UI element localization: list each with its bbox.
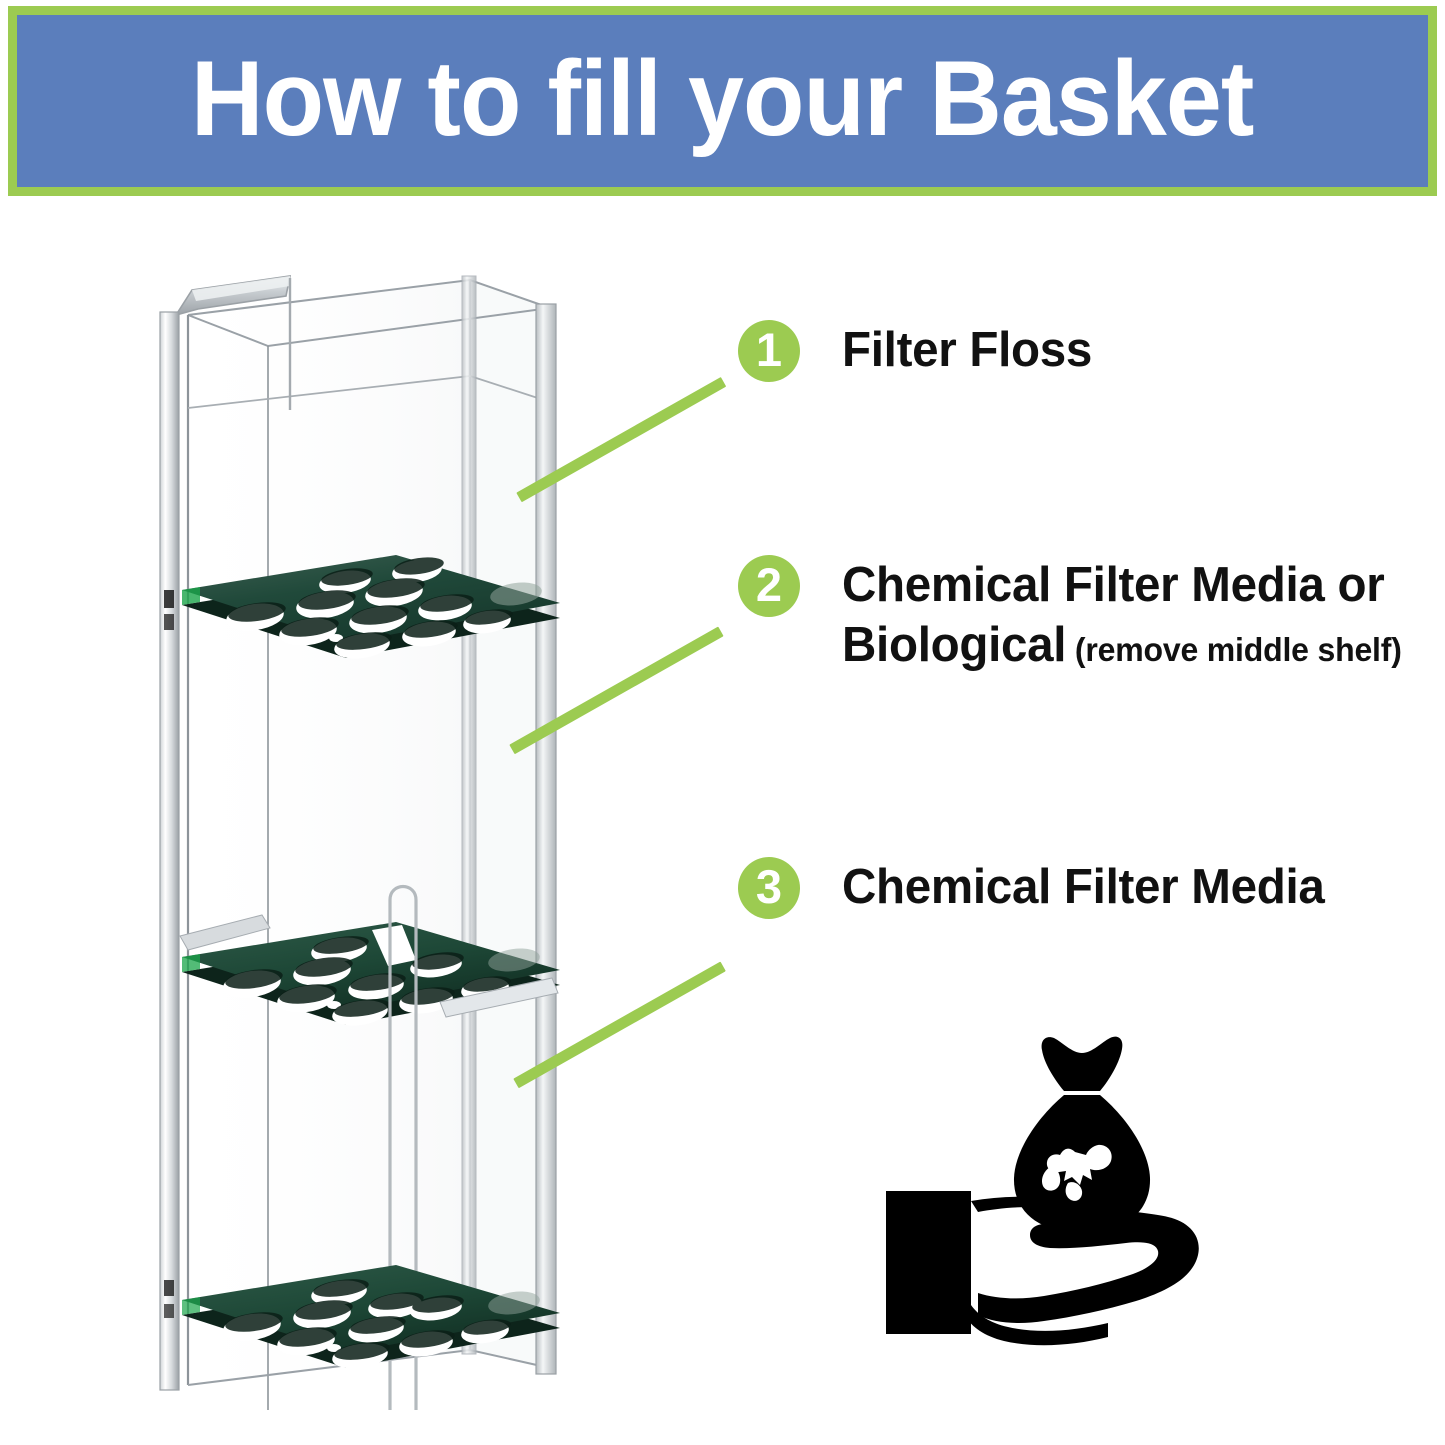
callout-step-3: 3 Chemical Filter Media [738, 857, 1339, 919]
basket-front-glass [188, 1385, 268, 1410]
step-label-2-line2: Biological (remove middle shelf) [842, 616, 1402, 676]
basket-right-rail [536, 304, 556, 1374]
step-badge-3: 3 [738, 857, 800, 919]
step-label-1-text: Filter Floss [842, 323, 1092, 377]
step-badge-2: 2 [738, 555, 800, 617]
step-label-1: Filter Floss [842, 321, 1092, 381]
step-label-3-text: Chemical Filter Media [842, 860, 1325, 914]
step-label-2-line1: Chemical Filter Media or [842, 556, 1402, 616]
hand-holding-media-bag-icon [868, 1005, 1218, 1355]
step-label-3: Chemical Filter Media [842, 858, 1325, 918]
filter-basket-illustration [140, 260, 600, 1410]
basket-left-rail [160, 312, 179, 1390]
page-title: How to fill your Basket [191, 45, 1254, 152]
callout-step-2: 2 Chemical Filter Media or Biological (r… [738, 555, 1419, 676]
step-badge-1: 1 [738, 320, 800, 382]
step-note-2: (remove middle shelf) [1066, 631, 1401, 668]
basket-glass-panels [188, 280, 550, 1385]
basket-back-rail [462, 276, 476, 1354]
header-banner: How to fill your Basket [8, 6, 1437, 196]
callout-step-1: 1 Filter Floss [738, 320, 1100, 382]
step-label-2: Chemical Filter Media or Biological (rem… [842, 556, 1402, 676]
step-label-2-bold: Biological [842, 618, 1066, 672]
